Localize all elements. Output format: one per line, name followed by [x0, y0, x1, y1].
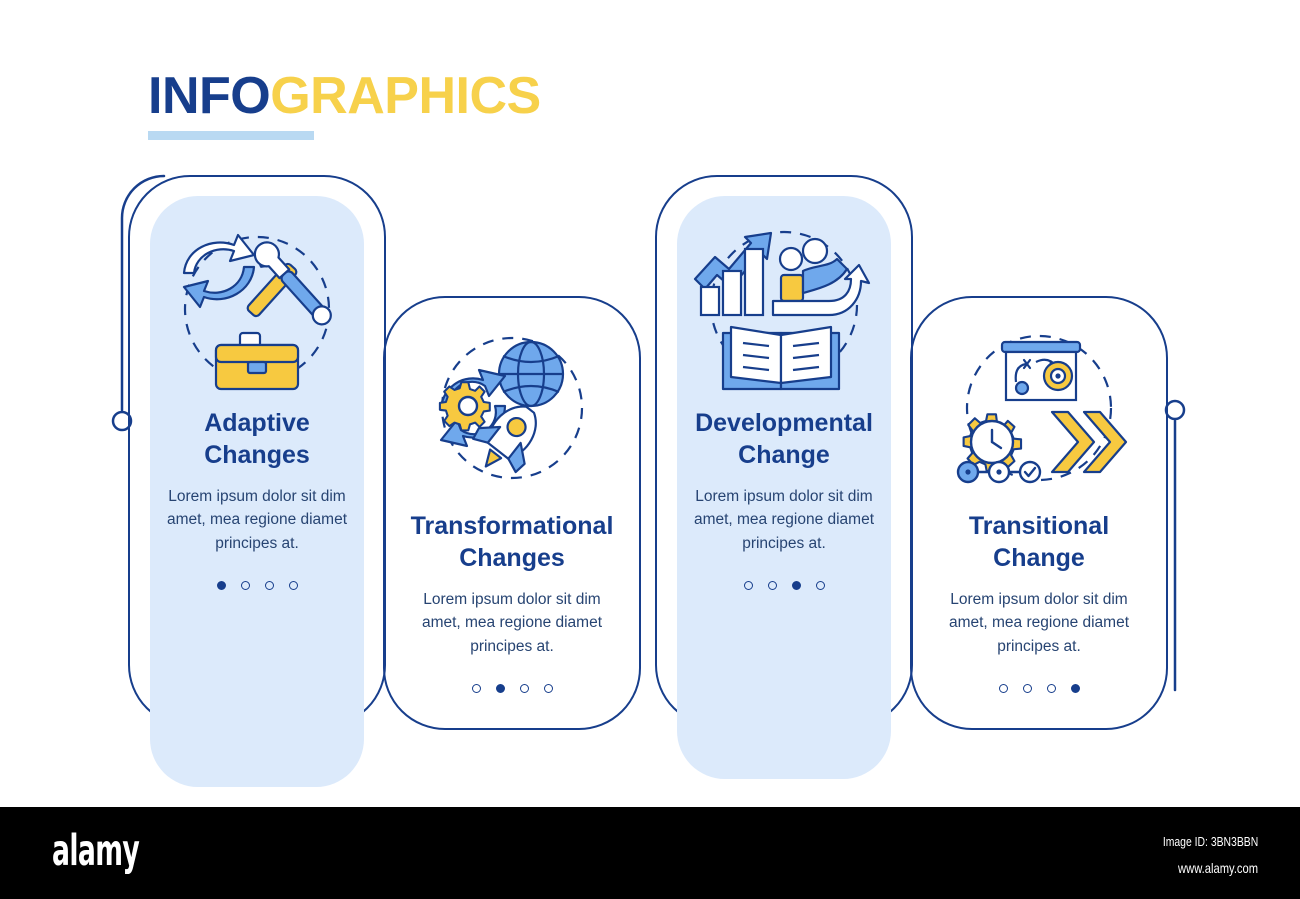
card-title-line1: Transformational — [411, 510, 614, 542]
infographic-canvas: INFOGRAPHICS al a ny — [0, 0, 1300, 899]
step-dot-3[interactable] — [520, 684, 529, 693]
step-dot-2[interactable] — [768, 581, 777, 590]
card-body: Lorem ipsum dolor sit dim amet, mea regi… — [682, 485, 887, 555]
card-title-line1: Adaptive — [204, 407, 310, 439]
card-body: Lorem ipsum dolor sit dim amet, mea regi… — [155, 485, 360, 555]
card-title-line1: Developmental — [695, 407, 873, 439]
step-dots[interactable] — [217, 581, 298, 590]
card-transitional-change[interactable]: Transitional Change Lorem ipsum dolor si… — [910, 296, 1168, 730]
card-title: Adaptive Changes — [204, 407, 310, 471]
step-dot-2[interactable] — [496, 684, 505, 693]
transformational-changes-icon — [417, 326, 607, 504]
step-dot-4[interactable] — [1071, 684, 1080, 693]
title-underline — [148, 131, 314, 140]
card-transformational-changes[interactable]: Transformational Changes Lorem ipsum dol… — [383, 296, 641, 730]
step-dot-3[interactable] — [265, 581, 274, 590]
step-dots[interactable] — [472, 684, 553, 693]
title-info: INFO — [148, 67, 270, 125]
step-dot-1[interactable] — [472, 684, 481, 693]
footer-bar — [0, 807, 1300, 899]
alamy-url: www.alamy.com — [1178, 860, 1258, 876]
step-dot-1[interactable] — [744, 581, 753, 590]
image-id-label: Image ID: 3BN3BBN — [1163, 834, 1258, 849]
alamy-logo: alamy — [52, 826, 139, 876]
step-dot-2[interactable] — [241, 581, 250, 590]
step-dot-1[interactable] — [217, 581, 226, 590]
page-title: INFOGRAPHICS — [148, 70, 541, 122]
step-dots[interactable] — [999, 684, 1080, 693]
card-title-line2: Change — [695, 439, 873, 471]
card-developmental-change[interactable]: Developmental Change Lorem ipsum dolor s… — [655, 175, 913, 727]
card-body: Lorem ipsum dolor sit dim amet, mea regi… — [937, 588, 1142, 658]
card-title-line1: Transitional — [969, 510, 1109, 542]
step-dot-3[interactable] — [792, 581, 801, 590]
step-dot-4[interactable] — [816, 581, 825, 590]
title-graphics: GRAPHICS — [270, 67, 540, 125]
step-dot-4[interactable] — [544, 684, 553, 693]
connector-endpoint-right — [1166, 401, 1184, 419]
developmental-change-icon — [689, 223, 879, 401]
card-body: Lorem ipsum dolor sit dim amet, mea regi… — [410, 588, 615, 658]
card-title-line2: Change — [969, 542, 1109, 574]
step-dot-3[interactable] — [1047, 684, 1056, 693]
step-dot-4[interactable] — [289, 581, 298, 590]
card-title: Transitional Change — [969, 510, 1109, 574]
card-title-line2: Changes — [204, 439, 310, 471]
step-dot-2[interactable] — [1023, 684, 1032, 693]
step-dot-1[interactable] — [999, 684, 1008, 693]
adaptive-changes-icon — [162, 223, 352, 401]
card-title-line2: Changes — [411, 542, 614, 574]
step-dots[interactable] — [744, 581, 825, 590]
card-title: Transformational Changes — [411, 510, 614, 574]
card-adaptive-changes[interactable]: Adaptive Changes Lorem ipsum dolor sit d… — [128, 175, 386, 727]
transitional-change-icon — [944, 326, 1134, 504]
card-title: Developmental Change — [695, 407, 873, 471]
